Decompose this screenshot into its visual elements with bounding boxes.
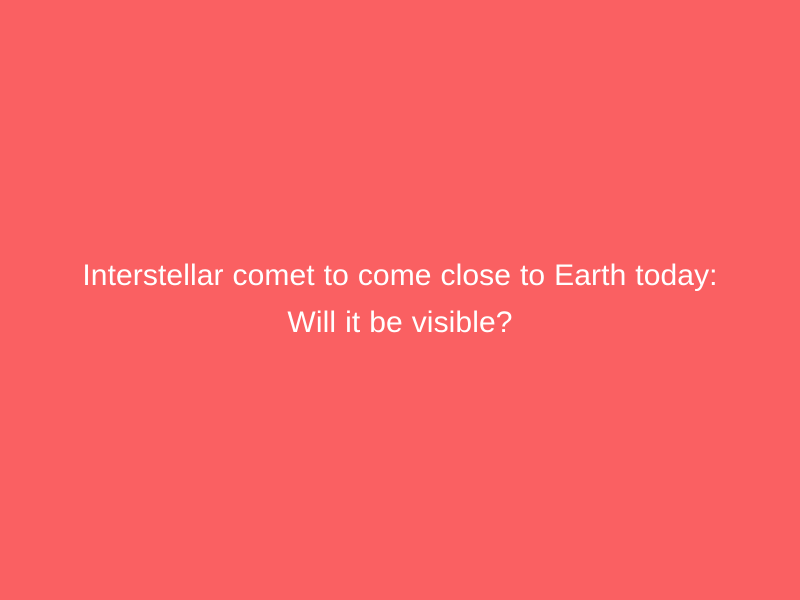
page-title: Interstellar comet to come close to Eart… xyxy=(80,252,720,346)
headline-line-1: Interstellar comet to come close to Eart… xyxy=(80,252,720,299)
share-card: Interstellar comet to come close to Eart… xyxy=(0,0,800,600)
headline-block: Interstellar comet to come close to Eart… xyxy=(40,252,760,346)
headline-line-2: Will it be visible? xyxy=(80,299,720,346)
